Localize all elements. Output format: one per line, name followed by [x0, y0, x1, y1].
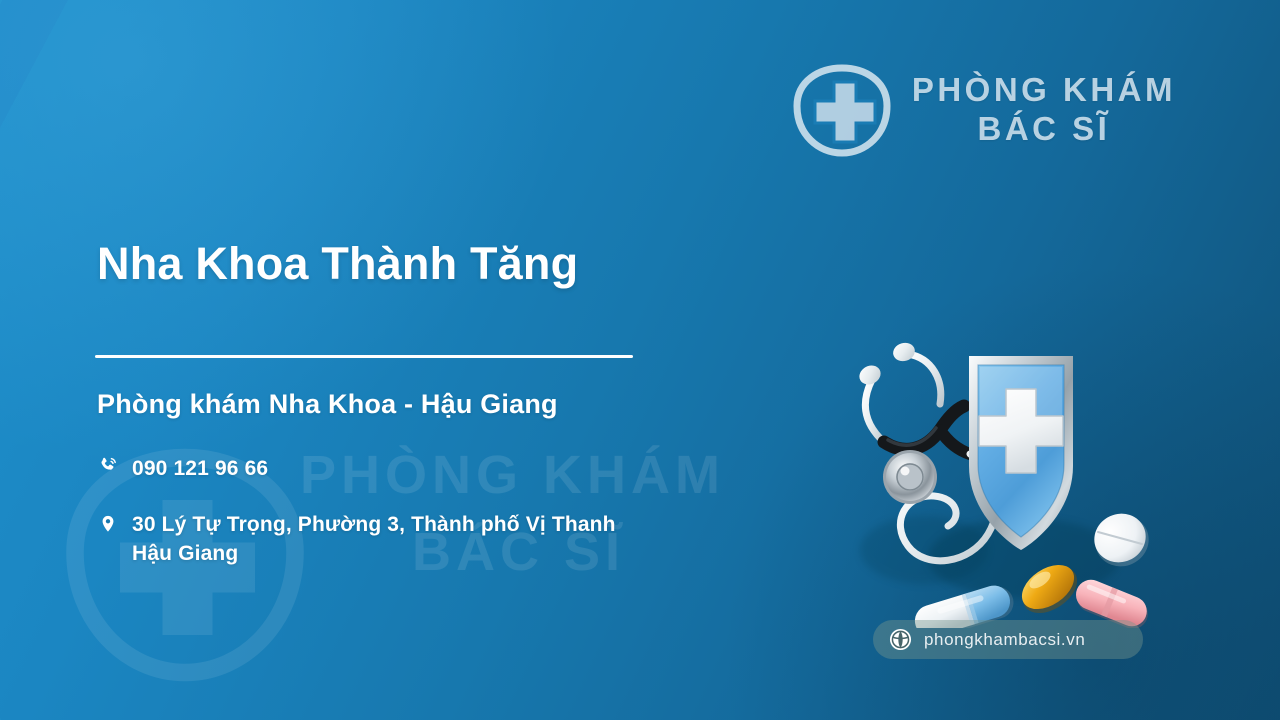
brand-name-line1: PHÒNG KHÁM [912, 71, 1176, 110]
brand-logo-icon [792, 62, 892, 158]
address: 30 Lý Tự Trọng, Phường 3, Thành phố Vị T… [132, 511, 616, 569]
brand-logo: PHÒNG KHÁM BÁC SĨ [792, 62, 1176, 158]
brand-name: PHÒNG KHÁM BÁC SĨ [912, 71, 1176, 149]
website-url: phongkhambacsi.vn [924, 630, 1085, 650]
clinic-banner: PHÒNG KHÁM BÁC SĨ PHÒNG KHÁM BÁC SĨ Nha … [0, 0, 1280, 720]
address-line1: 30 Lý Tự Trọng, Phường 3, Thành phố Vị T… [132, 513, 616, 536]
clinic-subtitle: Phòng khám Nha Khoa - Hậu Giang [97, 389, 558, 420]
medical-artwork [828, 318, 1176, 628]
website-badge[interactable]: phongkhambacsi.vn [873, 620, 1143, 659]
phone-ringing-icon [97, 455, 119, 476]
phone-number: 090 121 96 66 [132, 455, 268, 484]
globe-icon [889, 628, 912, 651]
address-line2: Hậu Giang [132, 540, 616, 569]
watermark-line1: PHÒNG KHÁM [300, 448, 820, 503]
title-divider [95, 355, 633, 358]
brand-name-line2: BÁC SĨ [912, 110, 1176, 149]
phone-row[interactable]: 090 121 96 66 [97, 455, 268, 484]
clinic-title: Nha Khoa Thành Tăng [97, 238, 578, 290]
address-row[interactable]: 30 Lý Tự Trọng, Phường 3, Thành phố Vị T… [97, 511, 757, 569]
map-pin-icon [97, 511, 119, 535]
